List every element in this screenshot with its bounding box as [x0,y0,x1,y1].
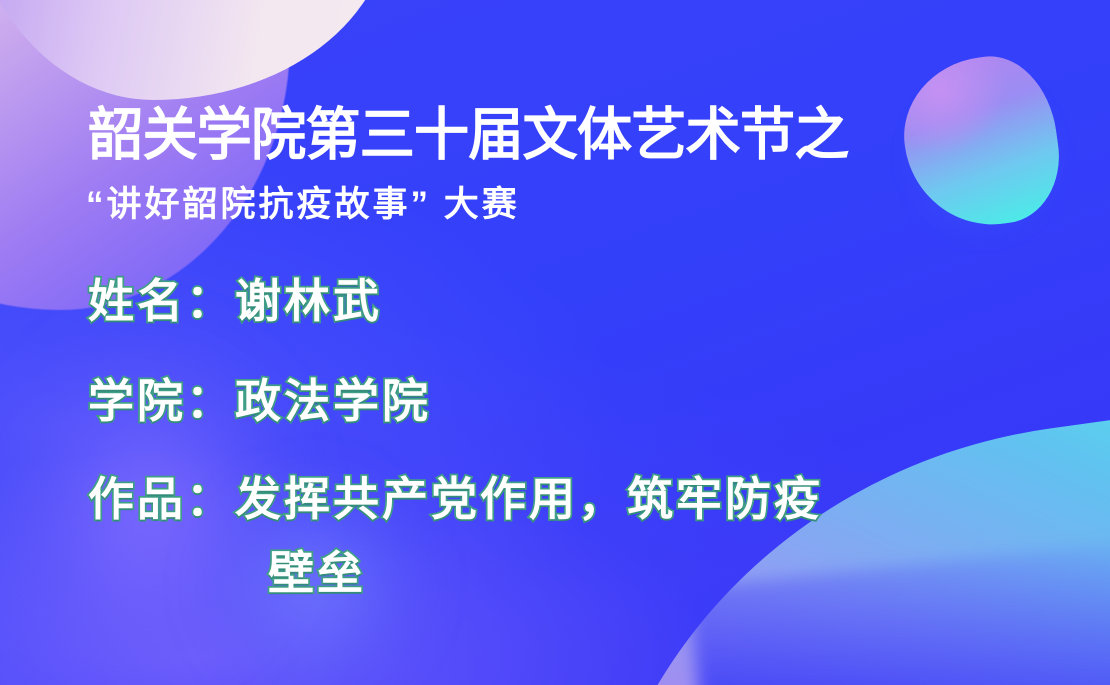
poster-subtitle: “讲好韶院抗疫故事” 大赛 [86,182,520,228]
field-college: 学院：政法学院 [88,372,431,430]
poster-title: 韶关学院第三十届文体艺术节之 [88,104,848,166]
field-name: 姓名：谢林武 [88,272,382,330]
field-work-line-1: 作品：发挥共产党作用，筑牢防疫 [88,470,823,528]
poster-canvas: 韶关学院第三十届文体艺术节之 “讲好韶院抗疫故事” 大赛 姓名：谢林武 学院：政… [0,0,1110,685]
field-work-line-2: 壁垒 [268,544,366,602]
